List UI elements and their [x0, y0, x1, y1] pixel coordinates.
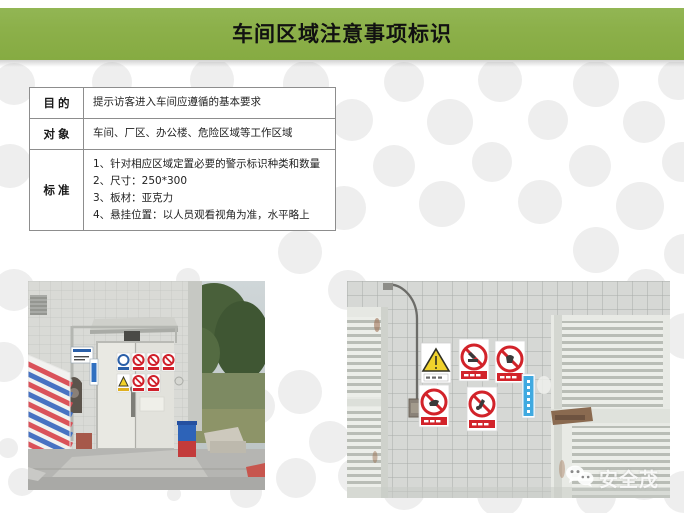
standard-line-2: 2、尺寸：250*300	[93, 173, 335, 190]
spec-value-target: 车间、厂区、办公楼、危险区域等工作区域	[84, 118, 336, 149]
standard-line-4: 4、悬挂位置：以人员观看视角为准，水平略上	[93, 207, 335, 224]
title-bar-shadow	[0, 60, 684, 67]
spec-value-standard: 1、针对相应区域定置必要的警示标识种类和数量 2、尺寸：250*300 3、板材…	[84, 149, 336, 230]
standard-line-3: 3、板材：亚克力	[93, 190, 335, 207]
page-title: 车间区域注意事项标识	[0, 8, 684, 60]
table-row: 标准 1、针对相应区域定置必要的警示标识种类和数量 2、尺寸：250*300 3…	[30, 149, 336, 230]
wall-warning-signs-photo	[347, 281, 670, 498]
standard-line-1: 1、针对相应区域定置必要的警示标识种类和数量	[93, 156, 335, 173]
table-row: 对象 车间、厂区、办公楼、危险区域等工作区域	[30, 118, 336, 149]
spec-label-target: 对象	[30, 118, 84, 149]
spec-label-standard: 标准	[30, 149, 84, 230]
table-row: 目的 提示访客进入车间应遵循的基本要求	[30, 88, 336, 119]
spec-value-purpose: 提示访客进入车间应遵循的基本要求	[84, 88, 336, 119]
spec-label-purpose: 目的	[30, 88, 84, 119]
factory-entrance-photo	[28, 281, 265, 490]
title-bar: 车间区域注意事项标识	[0, 8, 684, 60]
spec-table: 目的 提示访客进入车间应遵循的基本要求 对象 车间、厂区、办公楼、危险区域等工作…	[29, 87, 336, 231]
